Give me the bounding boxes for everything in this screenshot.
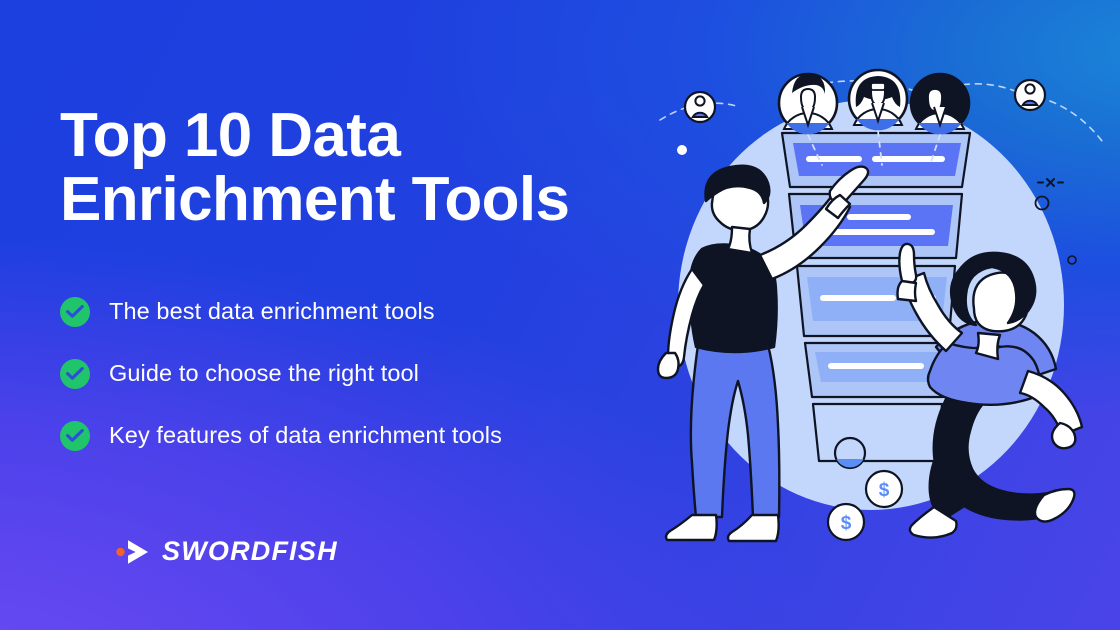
data-panel-1: [782, 133, 970, 187]
data-panel-5: [813, 404, 942, 468]
data-panel-4: [805, 343, 948, 397]
text-column: Top 10 Data Enrichment Tools The best da…: [60, 0, 650, 630]
page-title-line-1: Top 10 Data: [60, 104, 660, 168]
brand-name: SWORDFISH: [162, 536, 338, 567]
avatar-small-left: [685, 92, 715, 122]
dollar-coin-2-symbol: $: [841, 513, 852, 534]
data-enrichment-illustration: $ $: [640, 55, 1110, 555]
brand-logo[interactable]: SWORDFISH: [115, 536, 338, 567]
dollar-coin-1: $: [866, 471, 902, 507]
dot-small-1: [677, 145, 687, 155]
avatar-person-2: [849, 70, 907, 130]
list-item-label: Key features of data enrichment tools: [109, 424, 502, 448]
sparkle-icon: [1038, 179, 1063, 186]
check-circle-icon: [60, 297, 90, 327]
avatar-person-3: [911, 74, 969, 134]
list-item-label: The best data enrichment tools: [109, 300, 435, 324]
list-item: Guide to choose the right tool: [60, 343, 660, 405]
check-circle-icon: [60, 359, 90, 389]
avatar-row: [685, 70, 1045, 134]
page-title-line-2: Enrichment Tools: [60, 168, 660, 232]
check-circle-icon: [60, 421, 90, 451]
chevron-arrow-icon: [115, 537, 153, 567]
list-item: Key features of data enrichment tools: [60, 405, 660, 467]
page-title: Top 10 Data Enrichment Tools: [60, 104, 660, 232]
avatar-person-1: [779, 74, 837, 134]
dot-small-3: [1068, 256, 1076, 264]
dollar-coin-2: $: [828, 504, 864, 540]
avatar-small-right: [1015, 80, 1045, 110]
dollar-coin-1-symbol: $: [879, 480, 890, 501]
feature-list: The best data enrichment tools Guide to …: [60, 281, 660, 467]
list-item: The best data enrichment tools: [60, 281, 660, 343]
list-item-label: Guide to choose the right tool: [109, 362, 419, 386]
banner-canvas: Top 10 Data Enrichment Tools The best da…: [0, 0, 1120, 630]
